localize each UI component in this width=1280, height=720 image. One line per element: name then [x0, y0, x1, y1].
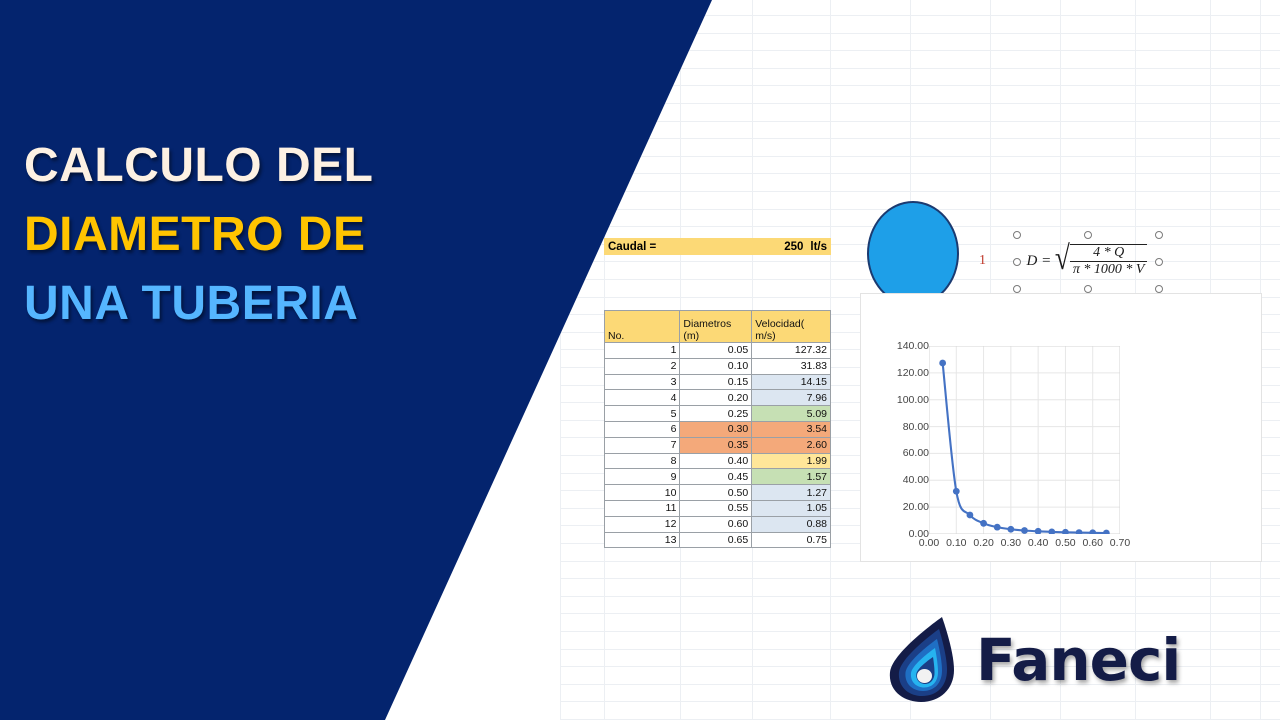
caudal-label: Caudal =: [604, 241, 656, 253]
cell-no[interactable]: 3: [605, 374, 680, 390]
cell-velocity[interactable]: 7.96: [752, 390, 831, 406]
cell-diameter[interactable]: 0.30: [680, 421, 752, 437]
column-header-diameter-l2: (m): [683, 331, 748, 343]
chart-svg: [929, 346, 1120, 534]
equation-numerator: 4 * Q: [1070, 245, 1148, 262]
cell-velocity[interactable]: 1.05: [752, 500, 831, 516]
resize-handle-ne[interactable]: [1155, 231, 1163, 239]
cell-diameter[interactable]: 0.50: [680, 485, 752, 501]
data-point: [980, 520, 987, 527]
data-point: [1089, 529, 1096, 534]
column-header-velocity-l1: Velocidad(: [755, 319, 827, 331]
column-header-diameter: Diametros (m): [680, 311, 752, 343]
y-tick-label: 120.00: [869, 367, 929, 379]
resize-handle-n[interactable]: [1084, 231, 1092, 239]
chart-plot-area: [929, 346, 1120, 534]
resize-handle-s[interactable]: [1084, 285, 1092, 293]
diameter-velocity-table[interactable]: No. Diametros (m) Velocidad( m/s) 10.051…: [604, 310, 831, 548]
cell-no[interactable]: 4: [605, 390, 680, 406]
cell-no[interactable]: 1: [605, 343, 680, 359]
cell-velocity[interactable]: 1.57: [752, 469, 831, 485]
cell-diameter[interactable]: 0.25: [680, 406, 752, 422]
equation-denominator: π * 1000 * V: [1070, 262, 1148, 278]
table-row[interactable]: 30.1514.15: [605, 374, 831, 390]
title-line-3: UNA TUBERIA: [24, 269, 494, 338]
table-row[interactable]: 130.650.75: [605, 532, 831, 548]
cell-no[interactable]: 10: [605, 485, 680, 501]
column-header-diameter-l1: Diametros: [683, 319, 748, 331]
data-point: [939, 360, 946, 367]
cell-velocity[interactable]: 31.83: [752, 358, 831, 374]
cell-diameter[interactable]: 0.15: [680, 374, 752, 390]
resize-handle-nw[interactable]: [1013, 231, 1021, 239]
slide-canvas: CALCULO DEL DIAMETRO DE UNA TUBERIA Caud…: [0, 0, 1280, 720]
table-row[interactable]: 80.401.99: [605, 453, 831, 469]
y-tick-label: 60.00: [869, 447, 929, 459]
cell-no[interactable]: 5: [605, 406, 680, 422]
column-header-velocity-l2: m/s): [755, 331, 827, 343]
resize-handle-w[interactable]: [1013, 258, 1021, 266]
cell-velocity[interactable]: 1.27: [752, 485, 831, 501]
y-tick-label: 40.00: [869, 474, 929, 486]
equation-lhs: D =: [1027, 253, 1052, 270]
y-tick-label: 140.00: [869, 340, 929, 352]
cell-velocity[interactable]: 1.99: [752, 453, 831, 469]
cell-velocity[interactable]: 0.75: [752, 532, 831, 548]
data-point: [1103, 530, 1110, 534]
table-row[interactable]: 50.255.09: [605, 406, 831, 422]
cell-diameter[interactable]: 0.05: [680, 343, 752, 359]
table-row[interactable]: 120.600.88: [605, 516, 831, 532]
velocity-vs-diameter-chart[interactable]: 0.0020.0040.0060.0080.00100.00120.00140.…: [860, 293, 1262, 562]
cell-diameter[interactable]: 0.65: [680, 532, 752, 548]
table-row[interactable]: 20.1031.83: [605, 358, 831, 374]
data-point: [1048, 528, 1055, 534]
cell-velocity[interactable]: 0.88: [752, 516, 831, 532]
table-header-row: No. Diametros (m) Velocidad( m/s): [605, 311, 831, 343]
column-header-no: No.: [605, 311, 680, 343]
title-line-1: CALCULO DEL: [24, 131, 494, 200]
cell-no[interactable]: 9: [605, 469, 680, 485]
caudal-unit: lt/s: [810, 241, 827, 253]
cell-velocity[interactable]: 2.60: [752, 437, 831, 453]
cell-diameter[interactable]: 0.10: [680, 358, 752, 374]
caudal-row[interactable]: Caudal = 250 lt/s: [604, 238, 831, 255]
cell-no[interactable]: 2: [605, 358, 680, 374]
cell-no[interactable]: 13: [605, 532, 680, 548]
equation-content: D = √ 4 * Q π * 1000 * V: [1016, 234, 1158, 288]
column-header-velocity: Velocidad( m/s): [752, 311, 831, 343]
table-row[interactable]: 40.207.96: [605, 390, 831, 406]
cell-no[interactable]: 11: [605, 500, 680, 516]
cell-no[interactable]: 8: [605, 453, 680, 469]
sqrt-icon: √: [1055, 244, 1070, 278]
cell-diameter[interactable]: 0.35: [680, 437, 752, 453]
cell-no[interactable]: 12: [605, 516, 680, 532]
brand-logo: Faneci: [880, 612, 1210, 704]
cell-diameter[interactable]: 0.55: [680, 500, 752, 516]
water-drop-icon: [880, 612, 968, 704]
data-point: [1021, 527, 1028, 534]
fraction: 4 * Q π * 1000 * V: [1070, 244, 1148, 278]
resize-handle-e[interactable]: [1155, 258, 1163, 266]
cell-diameter[interactable]: 0.20: [680, 390, 752, 406]
data-point: [1076, 529, 1083, 534]
table-row[interactable]: 100.501.27: [605, 485, 831, 501]
cell-diameter[interactable]: 0.40: [680, 453, 752, 469]
table-row[interactable]: 10.05127.32: [605, 343, 831, 359]
data-point: [1062, 529, 1069, 534]
resize-handle-se[interactable]: [1155, 285, 1163, 293]
cell-velocity[interactable]: 14.15: [752, 374, 831, 390]
blue-circle-shape[interactable]: [867, 201, 959, 306]
y-tick-label: 100.00: [869, 394, 929, 406]
title-line-2: DIAMETRO DE: [24, 200, 494, 269]
data-point: [967, 512, 974, 519]
cell-velocity[interactable]: 127.32: [752, 343, 831, 359]
table-row[interactable]: 110.551.05: [605, 500, 831, 516]
cell-no[interactable]: 6: [605, 421, 680, 437]
chart-gridlines: [929, 346, 1120, 534]
page-title: CALCULO DEL DIAMETRO DE UNA TUBERIA: [24, 131, 494, 338]
cell-no[interactable]: 7: [605, 437, 680, 453]
cell-diameter[interactable]: 0.60: [680, 516, 752, 532]
y-tick-label: 80.00: [869, 421, 929, 433]
table-row[interactable]: 90.451.57: [605, 469, 831, 485]
cell-velocity[interactable]: 5.09: [752, 406, 831, 422]
data-point: [1007, 526, 1014, 533]
annotation-number-1: 1: [979, 253, 986, 269]
table-row[interactable]: 60.303.54: [605, 421, 831, 437]
series-markers: [939, 360, 1110, 534]
plot-border: [929, 346, 1120, 534]
column-header-no-label: No.: [608, 330, 624, 342]
table-row[interactable]: 70.352.60: [605, 437, 831, 453]
y-tick-label: 20.00: [869, 501, 929, 513]
data-point: [1035, 528, 1042, 534]
resize-handle-sw[interactable]: [1013, 285, 1021, 293]
table-body: 10.05127.3220.1031.8330.1514.1540.207.96…: [605, 343, 831, 548]
caudal-value[interactable]: 250: [784, 241, 803, 253]
equation-object[interactable]: D = √ 4 * Q π * 1000 * V: [1016, 234, 1158, 288]
logo-wordmark: Faneci: [976, 626, 1180, 694]
data-point: [994, 524, 1001, 531]
cell-velocity[interactable]: 3.54: [752, 421, 831, 437]
data-point: [953, 488, 960, 495]
cell-diameter[interactable]: 0.45: [680, 469, 752, 485]
x-tick-label: 0.70: [1100, 537, 1140, 549]
radical-group: √ 4 * Q π * 1000 * V: [1053, 244, 1147, 278]
